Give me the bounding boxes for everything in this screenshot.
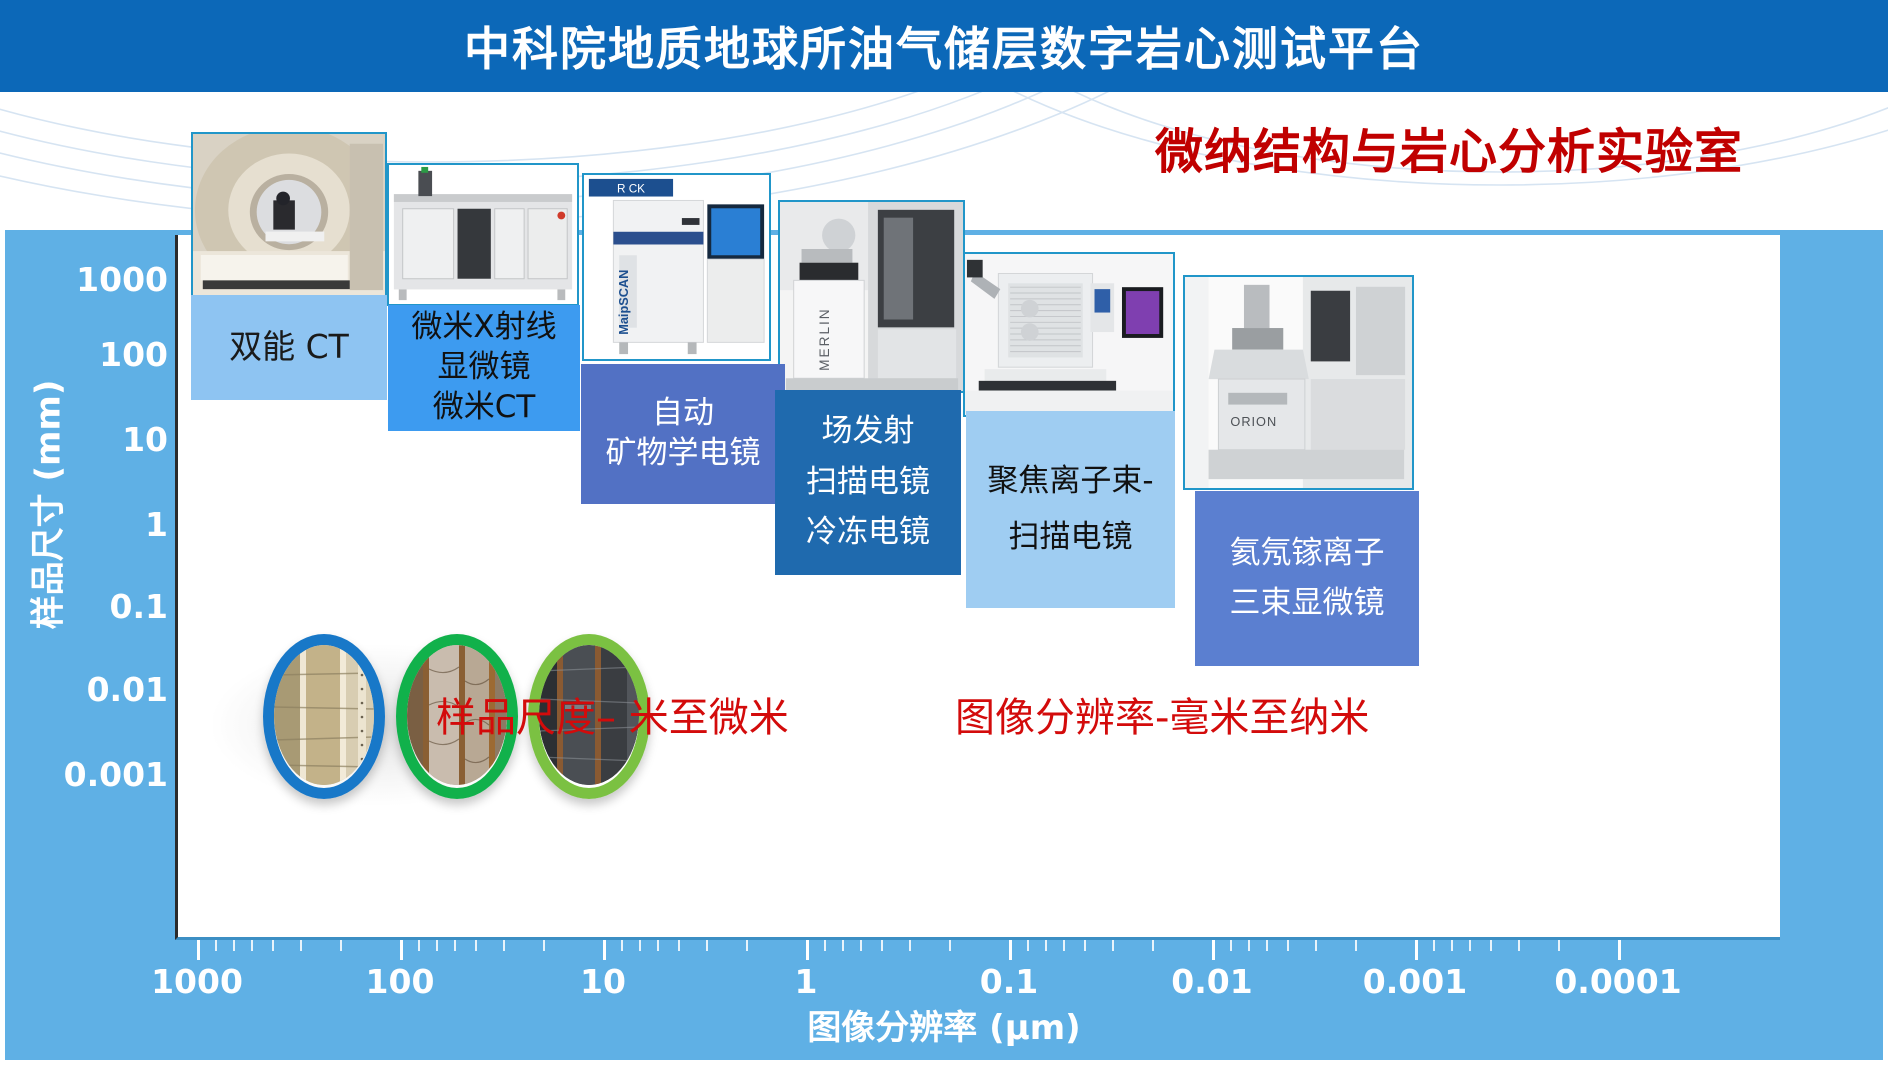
y-tick-label: 0.1 — [8, 587, 168, 626]
label-line: 矿物学电镜 — [606, 434, 761, 474]
label-box-fesem-cryo[interactable]: 场发射 扫描电镜 冷冻电镜 — [775, 390, 961, 575]
y-tick-label: 0.001 — [8, 755, 168, 794]
x-tick-label: 100 — [300, 962, 500, 1001]
y-tick-label: 0.01 — [8, 670, 168, 709]
label-line: 扫描电镜 — [1009, 518, 1133, 558]
core-sample-sandstone — [263, 634, 385, 799]
label-line: 自动 — [652, 394, 714, 434]
label-line: 显微镜 — [438, 348, 531, 388]
photo-triple-beam: ORION — [1183, 275, 1414, 490]
label-line: 场发射 — [822, 412, 915, 452]
x-tick-label: 0.01 — [1112, 962, 1312, 1001]
photo-fesem: MERLIN — [778, 200, 965, 393]
lab-subtitle: 微纳结构与岩心分析实验室 — [1155, 112, 1855, 182]
label-line: 三束显微镜 — [1230, 584, 1385, 624]
label-box-triple-beam[interactable]: 氦氖镓离子 三束显微镜 — [1195, 491, 1419, 666]
merlin-sem-image: MERLIN — [780, 202, 963, 391]
label-line: 扫描电镜 — [806, 463, 930, 503]
svg-text:MERLIN: MERLIN — [817, 307, 832, 370]
label-line: 双能 CT — [229, 326, 349, 368]
x-tick-label: 0.0001 — [1518, 962, 1718, 1001]
label-box-micro-xray-microscope[interactable]: 微米X射线 显微镜 微米CT — [388, 305, 580, 431]
label-box-dual-energy-ct[interactable]: 双能 CT — [191, 295, 387, 400]
y-tick-label: 10 — [8, 420, 168, 459]
core-sandstone-image — [274, 645, 374, 785]
x-axis-label: 图像分辨率 (μm) — [0, 1000, 1888, 1049]
y-tick-label: 100 — [8, 335, 168, 374]
fib-sem-image — [965, 254, 1173, 415]
ct-scanner-image — [193, 134, 385, 295]
micro-ct-cabinet-image — [389, 165, 577, 304]
svg-text:MaipSCAN: MaipSCAN — [616, 270, 631, 335]
y-axis-ticks: 1000 100 10 1 0.1 0.01 0.001 — [0, 230, 168, 1060]
y-tick-label: 1 — [8, 505, 168, 544]
photo-fib-sem — [963, 252, 1175, 417]
y-tick-label: 1000 — [8, 260, 168, 299]
label-box-fib-sem[interactable]: 聚焦离子束- 扫描电镜 — [966, 411, 1175, 608]
orion-triple-beam-image: ORION — [1185, 277, 1412, 488]
label-line: 冷冻电镜 — [806, 513, 930, 553]
svg-text:R CK: R CK — [617, 183, 645, 196]
x-tick-label: 0.001 — [1315, 962, 1515, 1001]
x-tick-label: 10 — [503, 962, 703, 1001]
x-tick-label: 1000 — [97, 962, 297, 1001]
header-banner: 中科院地质地球所油气储层数字岩心测试平台 — [0, 0, 1888, 92]
svg-text:ORION: ORION — [1230, 414, 1277, 429]
annotation-image-resolution: 图像分辨率-毫米至纳米 — [955, 685, 1369, 743]
photo-dual-energy-ct — [191, 132, 387, 297]
photo-auto-mineralogy: R CK MaipSCAN — [582, 173, 771, 361]
x-tick-label: 1 — [706, 962, 906, 1001]
x-axis-ticks: 1000 100 10 1 0.1 0.01 0.001 0.0001 — [0, 940, 1888, 1000]
label-line: 微米X射线 — [411, 308, 556, 348]
label-line: 微米CT — [433, 388, 536, 428]
maipscan-cabinet-image: R CK MaipSCAN — [584, 175, 769, 359]
x-tick-label: 0.1 — [909, 962, 1109, 1001]
photo-micro-xray-microscope — [387, 163, 579, 306]
page-title: 中科院地质地球所油气储层数字岩心测试平台 — [0, 0, 1888, 92]
label-line: 聚焦离子束- — [987, 462, 1153, 502]
annotation-sample-scale: 样品尺度– 米至微米 — [436, 685, 789, 743]
label-box-auto-mineralogy-sem[interactable]: 自动 矿物学电镜 — [581, 364, 785, 504]
label-line: 氦氖镓离子 — [1230, 534, 1385, 574]
